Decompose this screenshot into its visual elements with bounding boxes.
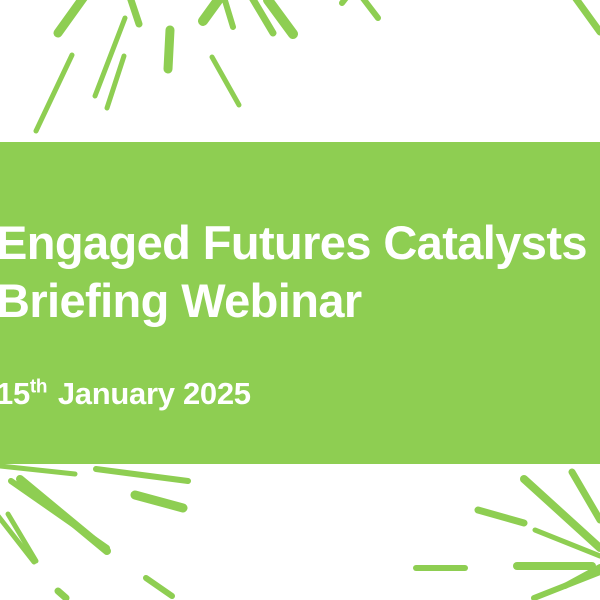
title-block: Engaged Futures Catalysts Briefing Webin… [0,142,600,464]
event-date-month-year: January 2025 [58,376,251,411]
event-date-ordinal-suffix: th [30,377,47,398]
event-date-day: 15 [0,376,30,411]
presentation-slide: Engaged Futures Catalysts Briefing Webin… [0,0,600,600]
page-title: Engaged Futures Catalysts Briefing Webin… [0,214,600,330]
event-date: 15th January 2025 [0,376,251,412]
